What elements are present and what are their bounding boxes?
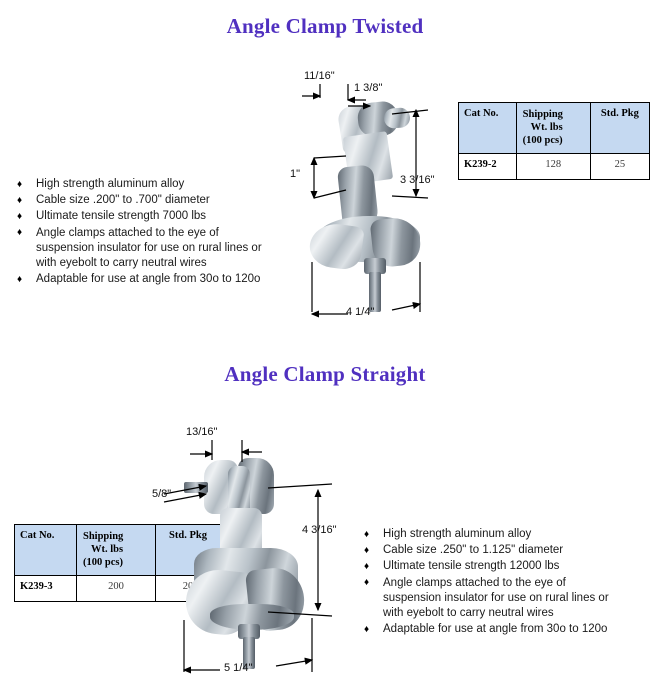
feature-text: Ultimate tensile strength 12000 lbs bbox=[383, 560, 559, 572]
list-item: ♦High strength aluminum alloy bbox=[362, 527, 624, 542]
cell-std-pkg: 25 bbox=[590, 154, 649, 180]
feature-text: Angle clamps attached to the eye of susp… bbox=[383, 577, 609, 619]
diamond-bullet-icon: ♦ bbox=[17, 272, 22, 287]
dimension-label-bottom: 5 1/4" bbox=[224, 662, 252, 674]
cell-cat-no: K239-3 bbox=[15, 576, 77, 602]
feature-text: Angle clamps attached to the eye of susp… bbox=[36, 227, 262, 269]
catalog-page: Angle Clamp Twisted ♦High strength alumi… bbox=[0, 0, 650, 700]
dimension-label-left: 1" bbox=[290, 168, 300, 180]
spec-table-twisted: Cat No. Shipping Wt. lbs (100 pcs) Std. … bbox=[458, 102, 650, 180]
list-item: ♦Cable size .250" to 1.125" diameter bbox=[362, 543, 624, 558]
diamond-bullet-icon: ♦ bbox=[364, 527, 369, 542]
column-header-std-pkg: Std. Pkg bbox=[590, 103, 649, 154]
list-item: ♦Angle clamps attached to the eye of sus… bbox=[362, 576, 624, 622]
cell-cat-no: K239-2 bbox=[459, 154, 517, 180]
column-header-shipping-wt: Shipping Wt. lbs (100 pcs) bbox=[77, 525, 156, 576]
dimension-label-bottom: 4 1/4" bbox=[346, 306, 374, 318]
diamond-bullet-icon: ♦ bbox=[17, 177, 22, 192]
diamond-bullet-icon: ♦ bbox=[17, 209, 22, 224]
feature-text: Adaptable for use at angle from 30o to 1… bbox=[383, 623, 607, 635]
feature-text: Adaptable for use at angle from 30o to 1… bbox=[36, 273, 260, 285]
header-line-1: Shipping bbox=[83, 531, 123, 542]
dimension-label-right: 4 3/16" bbox=[302, 524, 337, 536]
feature-text: High strength aluminum alloy bbox=[36, 178, 184, 190]
diamond-bullet-icon: ♦ bbox=[17, 225, 22, 240]
diamond-bullet-icon: ♦ bbox=[364, 575, 369, 590]
dimension-label-left: 5/8" bbox=[152, 488, 171, 500]
diamond-bullet-icon: ♦ bbox=[364, 559, 369, 574]
header-line-2: Wt. lbs bbox=[83, 543, 155, 556]
dimension-label-top-right: 1 3/8" bbox=[354, 82, 382, 94]
list-item: ♦Ultimate tensile strength 12000 lbs bbox=[362, 559, 624, 574]
section-title-straight: Angle Clamp Straight bbox=[0, 362, 650, 387]
feature-list-twisted: ♦High strength aluminum alloy ♦Cable siz… bbox=[15, 177, 277, 288]
list-item: ♦High strength aluminum alloy bbox=[15, 177, 277, 192]
feature-text: Cable size .250" to 1.125" diameter bbox=[383, 544, 563, 556]
diamond-bullet-icon: ♦ bbox=[17, 193, 22, 208]
feature-text: Ultimate tensile strength 7000 lbs bbox=[36, 210, 206, 222]
column-header-shipping-wt: Shipping Wt. lbs (100 pcs) bbox=[516, 103, 590, 154]
product-illustration-twisted: 11/16" 1 3/8" 1" 3 3/16" 4 1/4" bbox=[288, 66, 458, 336]
feature-list-straight: ♦High strength aluminum alloy ♦Cable siz… bbox=[362, 527, 624, 638]
product-illustration-straight: 13/16" 5/8" 4 3/16" 5 1/4" bbox=[150, 420, 360, 685]
list-item: ♦Adaptable for use at angle from 30o to … bbox=[362, 622, 624, 637]
header-line-3: (100 pcs) bbox=[83, 556, 155, 569]
header-line-1: Shipping bbox=[523, 109, 563, 120]
dimension-label-top: 13/16" bbox=[186, 426, 217, 438]
dimension-label-top-left: 11/16" bbox=[304, 70, 335, 82]
table-header-row: Cat No. Shipping Wt. lbs (100 pcs) Std. … bbox=[459, 103, 650, 154]
column-header-cat-no: Cat No. bbox=[15, 525, 77, 576]
column-header-cat-no: Cat No. bbox=[459, 103, 517, 154]
diamond-bullet-icon: ♦ bbox=[364, 622, 369, 637]
cell-shipping-wt: 128 bbox=[516, 154, 590, 180]
list-item: ♦Ultimate tensile strength 7000 lbs bbox=[15, 209, 277, 224]
cell-shipping-wt: 200 bbox=[77, 576, 156, 602]
feature-text: High strength aluminum alloy bbox=[383, 528, 531, 540]
table-row: K239-2 128 25 bbox=[459, 154, 650, 180]
section-title-twisted: Angle Clamp Twisted bbox=[0, 14, 650, 39]
dimension-label-right: 3 3/16" bbox=[400, 174, 435, 186]
list-item: ♦Cable size .200" to .700" diameter bbox=[15, 193, 277, 208]
feature-text: Cable size .200" to .700" diameter bbox=[36, 194, 210, 206]
dimension-lines-twisted bbox=[288, 66, 458, 336]
list-item: ♦Angle clamps attached to the eye of sus… bbox=[15, 226, 277, 272]
header-line-3: (100 pcs) bbox=[523, 134, 590, 147]
header-line-2: Wt. lbs bbox=[523, 121, 590, 134]
dimension-lines-straight bbox=[150, 420, 360, 685]
diamond-bullet-icon: ♦ bbox=[364, 543, 369, 558]
list-item: ♦Adaptable for use at angle from 30o to … bbox=[15, 272, 277, 287]
